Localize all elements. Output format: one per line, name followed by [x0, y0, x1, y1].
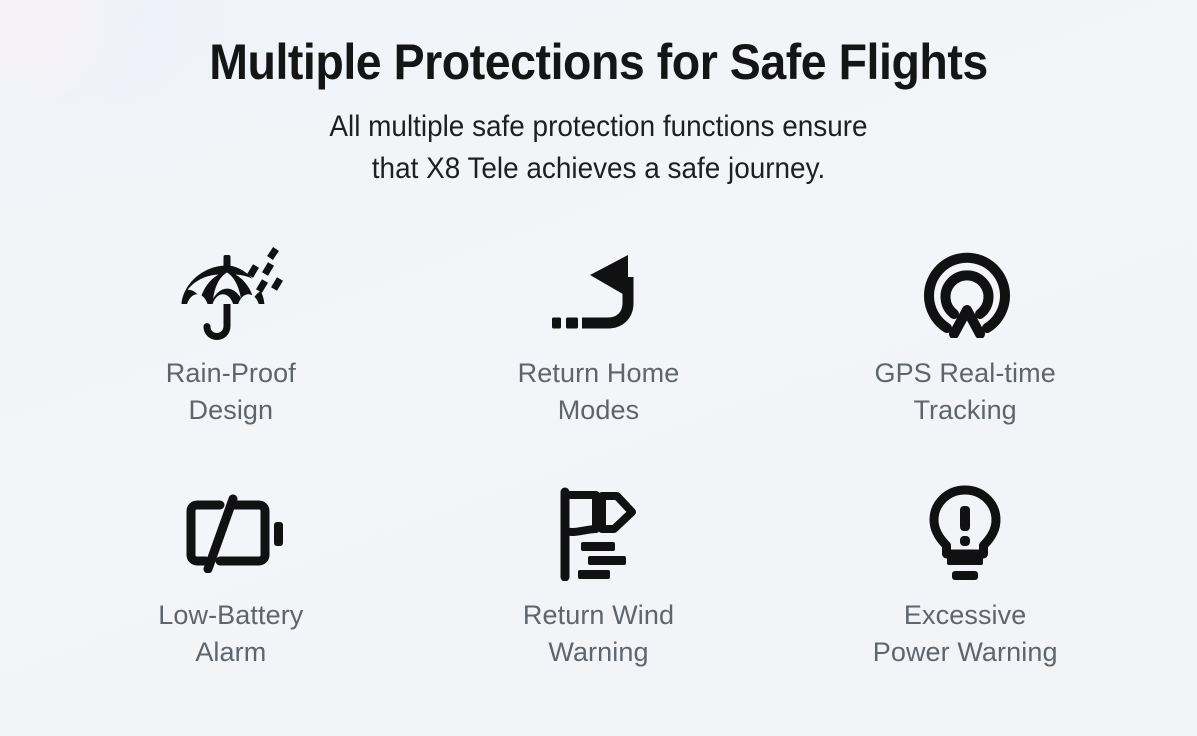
feature-label-line-2: Tracking	[874, 392, 1055, 429]
feature-label: Return Home Modes	[518, 355, 680, 430]
feature-item-wind-warning: Return Wind Warning	[415, 481, 782, 677]
feature-item-gps-tracking: GPS Real-time Tracking	[782, 239, 1149, 435]
wind-flag-icon	[554, 481, 646, 585]
feature-label-line-1: Low-Battery	[158, 597, 303, 634]
gps-signal-icon	[921, 239, 1013, 343]
feature-label: GPS Real-time Tracking	[874, 355, 1055, 430]
page-subtitle-line-2: that X8 Tele achieves a safe journey.	[42, 148, 1155, 191]
feature-label: Rain-Proof Design	[166, 355, 296, 430]
feature-grid: Rain-Proof Design Return Home	[49, 239, 1149, 677]
feature-label: Low-Battery Alarm	[158, 597, 303, 672]
feature-panel: Multiple Protections for Safe Flights Al…	[0, 0, 1197, 736]
feature-label-line-2: Modes	[518, 392, 680, 429]
feature-label-line-2: Warning	[523, 634, 674, 671]
umbrella-rain-icon	[176, 239, 284, 343]
feature-label-line-2: Alarm	[158, 634, 303, 671]
page-title: Multiple Protections for Safe Flights	[42, 36, 1155, 89]
feature-label-line-1: Excessive	[873, 597, 1058, 634]
page-subtitle-line-1: All multiple safe protection functions e…	[42, 106, 1155, 149]
low-battery-icon	[184, 481, 284, 585]
feature-label-line-2: Power Warning	[873, 634, 1058, 671]
return-arrow-icon	[552, 239, 648, 343]
feature-item-rain-proof: Rain-Proof Design	[49, 239, 416, 435]
feature-label-line-1: GPS Real-time	[874, 355, 1055, 392]
feature-item-low-battery: Low-Battery Alarm	[49, 481, 416, 677]
feature-label-line-1: Return Home	[518, 355, 680, 392]
panel-header: Multiple Protections for Safe Flights Al…	[0, 0, 1197, 191]
feature-item-return-home: Return Home Modes	[415, 239, 782, 435]
feature-label-line-1: Rain-Proof	[166, 355, 296, 392]
feature-label: Return Wind Warning	[523, 597, 674, 672]
feature-label: Excessive Power Warning	[873, 597, 1058, 672]
feature-item-excessive-power: Excessive Power Warning	[782, 481, 1149, 677]
page-subtitle: All multiple safe protection functions e…	[42, 106, 1155, 191]
feature-label-line-2: Design	[166, 392, 296, 429]
lightbulb-alert-icon	[923, 481, 1007, 585]
feature-label-line-1: Return Wind	[523, 597, 674, 634]
